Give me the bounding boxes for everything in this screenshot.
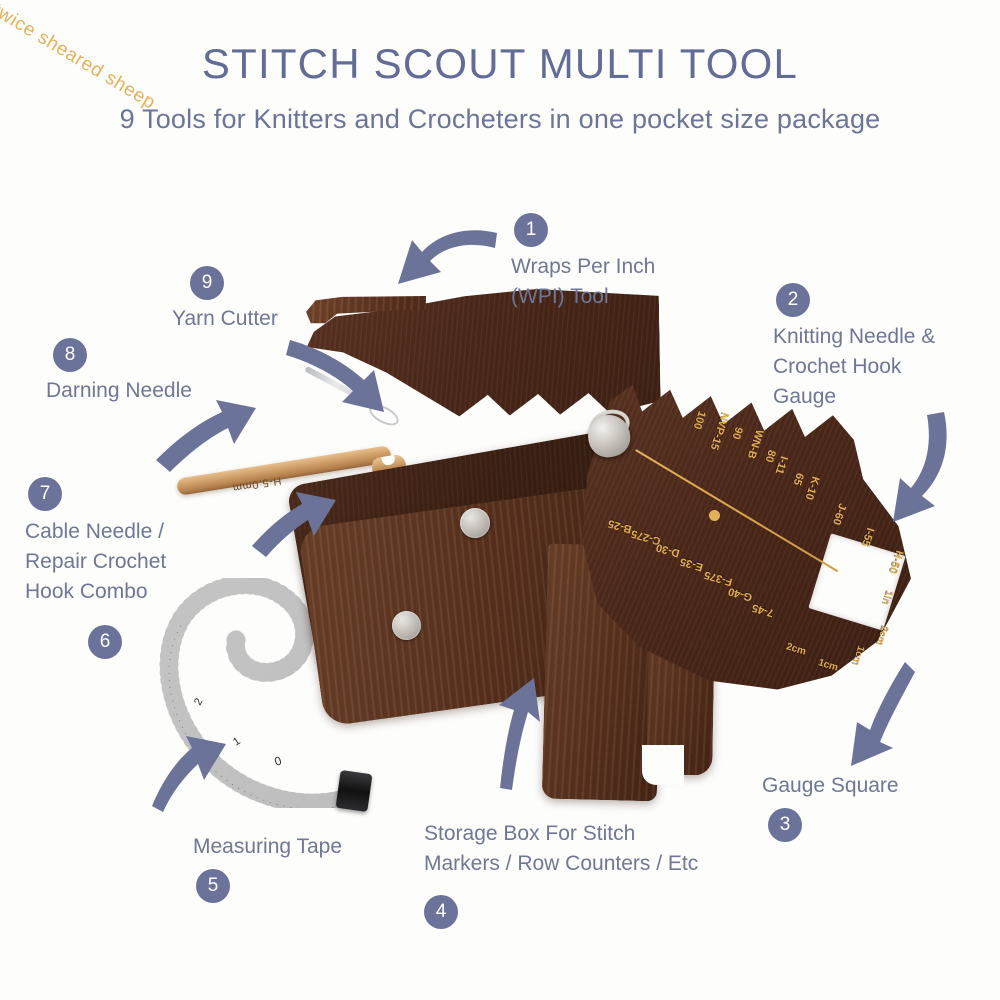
callout-label-9: Yarn Cutter [172,304,362,334]
callout-badge-2[interactable]: 2 [776,283,810,317]
arrow-to-storage-box [499,678,540,790]
callout-label-5: Measuring Tape [193,832,393,862]
arrow-to-needle-gauge [893,412,947,522]
callout-badge-7[interactable]: 7 [28,477,62,511]
arrow-to-yarn-cutter [286,340,384,412]
callout-label-8: Darning Needle [46,376,266,406]
callout-badge-9[interactable]: 9 [190,266,224,300]
callout-label-2: Knitting Needle & Crochet Hook Gauge [773,322,988,412]
callout-badge-4[interactable]: 4 [424,895,458,929]
callout-label-4: Storage Box For Stitch Markers / Row Cou… [424,819,744,879]
callout-label-7: Cable Needle / Repair Crochet Hook Combo [25,517,215,607]
callout-label-1: Wraps Per Inch (WPI) Tool [511,252,741,312]
callout-badge-3[interactable]: 3 [768,808,802,842]
arrow-to-wpi-tool [398,230,497,284]
arrow-to-darning-needle [156,400,256,472]
arrow-to-gauge-square [851,662,915,766]
callout-badge-5[interactable]: 5 [196,869,230,903]
arrow-to-cable-needle [252,492,336,557]
infographic-canvas: STITCH SCOUT MULTI TOOL 9 Tools for Knit… [0,0,1000,1000]
callout-badge-1[interactable]: 1 [514,213,548,247]
callout-label-3: Gauge Square [762,771,982,801]
callout-badge-6[interactable]: 6 [88,625,122,659]
arrow-to-measuring-tape [152,736,226,812]
callout-badge-8[interactable]: 8 [53,338,87,372]
